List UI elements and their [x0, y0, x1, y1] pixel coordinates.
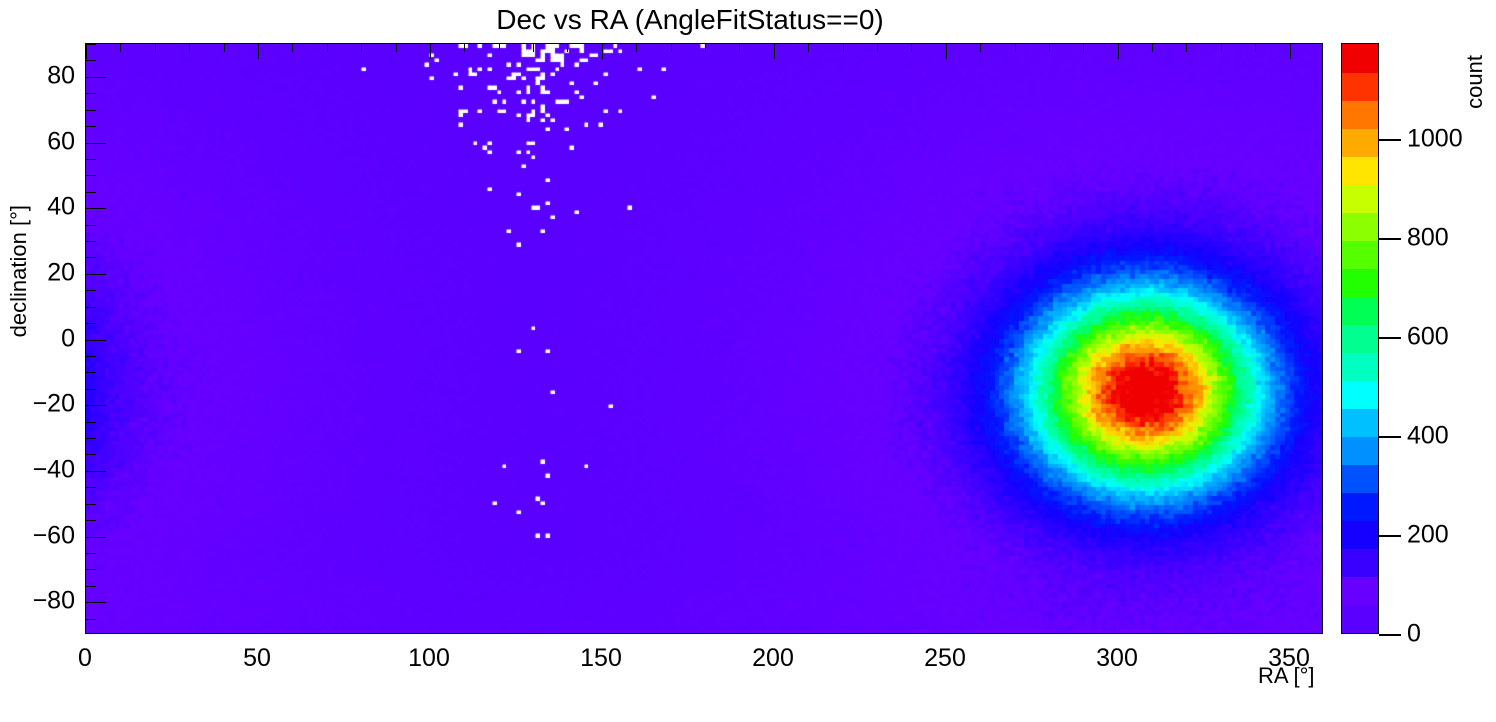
y-axis-title: declination [°] — [6, 205, 32, 337]
color-scale-band — [1342, 156, 1378, 185]
color-scale-band — [1342, 604, 1378, 633]
color-scale-band — [1342, 296, 1378, 325]
y-axis-label: 0 — [61, 325, 75, 354]
y-axis-label: −60 — [33, 522, 75, 551]
y-axis-label: −40 — [33, 456, 75, 485]
color-scale-band — [1342, 100, 1378, 129]
y-axis-label: 80 — [47, 62, 75, 91]
color-scale-band — [1342, 72, 1378, 101]
color-scale-label: 800 — [1407, 224, 1449, 253]
x-axis-label: 100 — [408, 644, 450, 673]
color-scale-band — [1342, 576, 1378, 605]
color-scale-label: 0 — [1407, 620, 1421, 649]
x-axis: 050100150200250300350 — [85, 634, 1323, 680]
y-axis-label: −20 — [33, 390, 75, 419]
y-axis-label: 20 — [47, 259, 75, 288]
color-scale-band — [1342, 184, 1378, 213]
color-scale-band — [1342, 492, 1378, 521]
y-axis-label: 60 — [47, 128, 75, 157]
color-scale-tick — [1379, 634, 1401, 636]
color-scale-band — [1342, 240, 1378, 269]
color-scale-tick — [1379, 535, 1401, 537]
y-axis-label: 40 — [47, 193, 75, 222]
plot-frame — [85, 43, 1323, 634]
color-scale-title: count — [1462, 55, 1488, 109]
color-scale-band — [1342, 408, 1378, 437]
color-scale-band — [1342, 520, 1378, 549]
heatmap-canvas — [86, 44, 1323, 634]
x-axis-label: 150 — [580, 644, 622, 673]
color-scale-band — [1342, 268, 1378, 297]
x-axis-label: 0 — [78, 644, 92, 673]
color-scale-band — [1342, 324, 1378, 353]
color-scale-tick — [1379, 238, 1401, 240]
color-scale-band — [1342, 128, 1378, 157]
color-scale-label: 200 — [1407, 521, 1449, 550]
x-axis-label: 50 — [243, 644, 271, 673]
color-scale-label: 600 — [1407, 323, 1449, 352]
color-scale-axis: 02004006008001000 — [1379, 43, 1496, 634]
color-scale-band — [1342, 436, 1378, 465]
color-scale-tick — [1379, 139, 1401, 141]
color-scale-band — [1342, 44, 1378, 73]
color-scale: 02004006008001000 — [1341, 43, 1379, 634]
y-axis-label: −80 — [33, 587, 75, 616]
color-scale-band — [1342, 352, 1378, 381]
color-scale-gradient — [1341, 43, 1379, 634]
color-scale-band — [1342, 548, 1378, 577]
x-axis-label: 200 — [752, 644, 794, 673]
color-scale-tick — [1379, 436, 1401, 438]
color-scale-band — [1342, 464, 1378, 493]
root-canvas: Dec vs RA (AngleFitStatus==0) 0501001502… — [0, 0, 1496, 722]
color-scale-tick — [1379, 337, 1401, 339]
color-scale-band — [1342, 380, 1378, 409]
x-axis-label: 250 — [924, 644, 966, 673]
page-title: Dec vs RA (AngleFitStatus==0) — [0, 4, 1380, 36]
color-scale-label: 1000 — [1407, 125, 1463, 154]
y-axis: −80−60−40−20020406080 — [20, 43, 85, 634]
color-scale-band — [1342, 212, 1378, 241]
x-axis-label: 300 — [1096, 644, 1138, 673]
x-axis-title: RA [°] — [1258, 663, 1314, 689]
color-scale-label: 400 — [1407, 422, 1449, 451]
